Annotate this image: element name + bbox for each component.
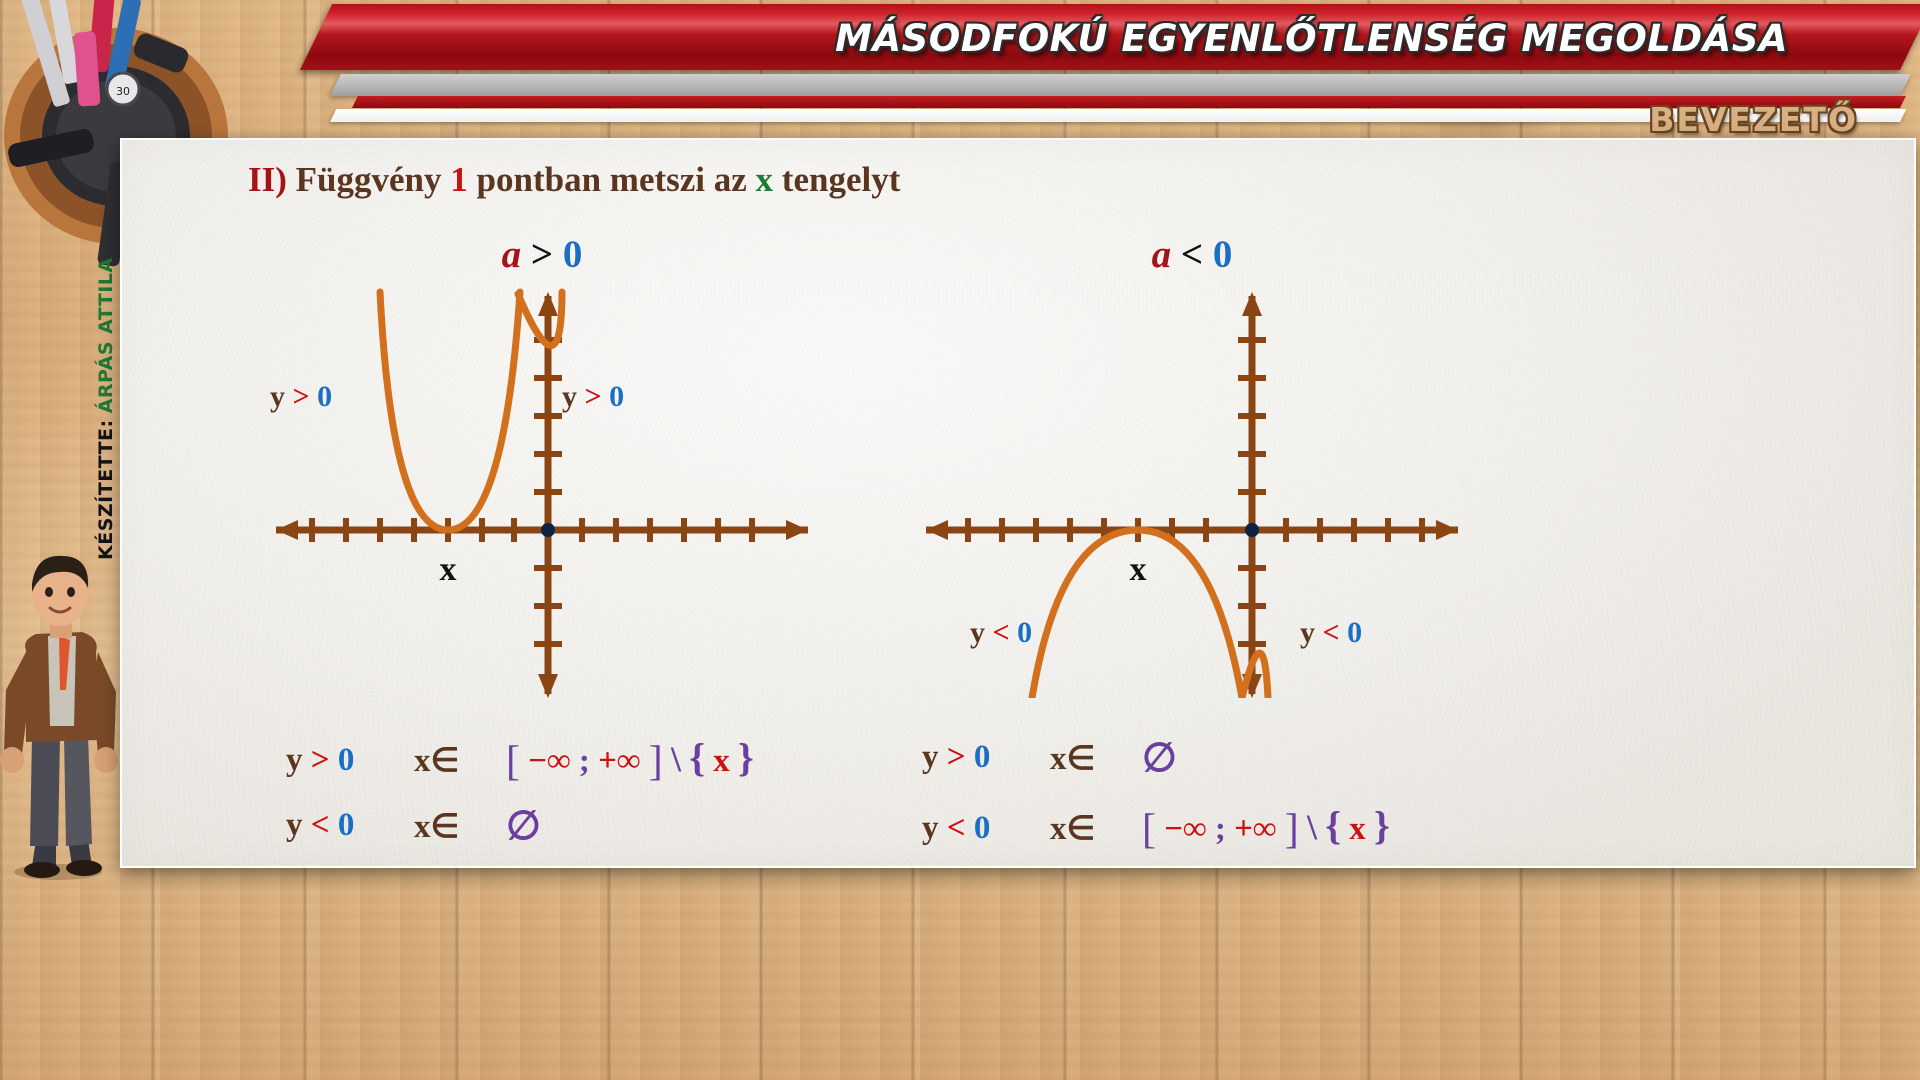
credit-prefix: KÉSZÍTETTE: xyxy=(95,419,117,560)
condition-value: 0 xyxy=(1213,233,1233,276)
formula-row-y-gt-0: y > 0 x∈ [ −∞ ; +∞ ] \ { x } xyxy=(286,734,846,786)
condition-value: 0 xyxy=(563,233,583,276)
panel-a-positive: a > 0 xyxy=(262,232,822,852)
formula-row-y-lt-0: y < 0 x∈ [ −∞ ; +∞ ] \ { x } xyxy=(922,802,1482,854)
heading-variable: x xyxy=(756,160,774,199)
heading-text-1: Függvény xyxy=(296,160,442,199)
x-axis-root-label: x xyxy=(1130,551,1147,588)
heading-numeral: II) xyxy=(248,160,287,199)
region-label-left: y > 0 xyxy=(270,380,332,414)
heading-count: 1 xyxy=(450,160,468,199)
credit-author: ÁRPÁS ATTILA xyxy=(95,257,117,413)
banner-title: MÁSODFOKÚ EGYENLŐTLENSÉG MEGOLDÁSA xyxy=(0,8,1852,68)
banner-gray-band xyxy=(330,74,1911,96)
condition-a-positive: a > 0 xyxy=(262,232,822,277)
heading-text-2: pontban metszi az xyxy=(477,160,747,199)
panel-a-negative: a < 0 xyxy=(912,232,1472,852)
condition-operator: > xyxy=(531,233,553,276)
slide-content-panel: II) Függvény 1 pontban metszi az x tenge… xyxy=(120,138,1916,868)
region-label-left: y < 0 xyxy=(970,616,1032,650)
region-label-right: y < 0 xyxy=(1300,616,1362,650)
page-title: II) Függvény 1 pontban metszi az x tenge… xyxy=(248,160,900,200)
heading-text-3: tengelyt xyxy=(782,160,901,199)
formula-row-y-lt-0: y < 0 x∈ ∅ xyxy=(286,802,846,849)
condition-operator: < xyxy=(1181,233,1203,276)
formula-row-y-gt-0: y > 0 x∈ ∅ xyxy=(922,734,1482,781)
region-label-right: y > 0 xyxy=(562,380,624,414)
condition-a-negative: a < 0 xyxy=(912,232,1472,277)
banner-subtitle: BEVEZETŐ xyxy=(1649,100,1858,139)
svg-text:30: 30 xyxy=(116,85,130,98)
coefficient-a: a xyxy=(502,233,522,276)
title-banner: MÁSODFOKÚ EGYENLŐTLENSÉG MEGOLDÁSA BEVEZ… xyxy=(0,0,1920,150)
coefficient-a: a xyxy=(1152,233,1172,276)
x-axis-root-label: x xyxy=(440,551,457,588)
graph-a-positive: x xyxy=(262,278,822,698)
teacher-illustration xyxy=(0,540,126,880)
